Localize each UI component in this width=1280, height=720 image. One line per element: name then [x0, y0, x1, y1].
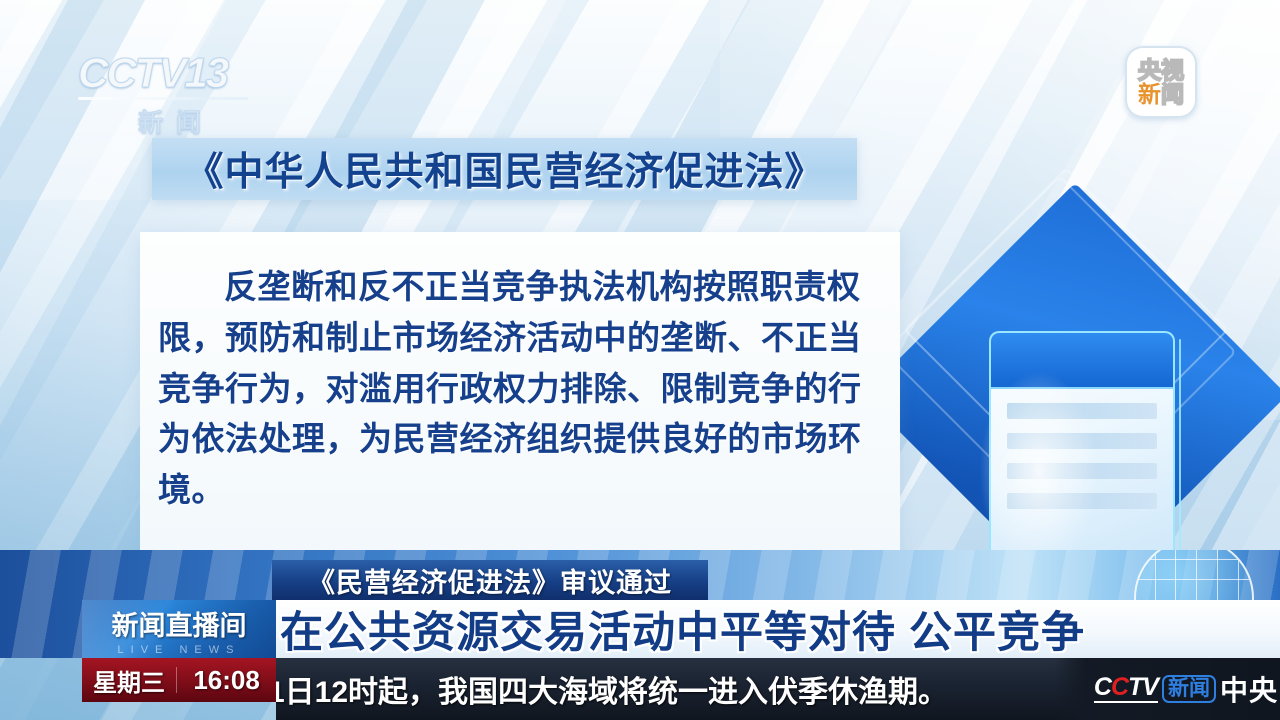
ticker-branding: CCTV 新闻 中央 — [1054, 658, 1280, 720]
document-text-line — [1007, 493, 1157, 509]
headline-text: 在公共资源交易活动中平等对待 公平竞争 — [272, 598, 1085, 660]
document-body — [989, 331, 1175, 561]
lower-third-kicker: 《民营经济促进法》审议通过 — [272, 560, 708, 600]
slide-body-panel: 反垄断和反不正当竞争执法机构按照职责权限，预防和制止市场经济活动中的垄断、不正当… — [140, 232, 900, 562]
slide-title: 《中华人民共和国民营经济促进法》 — [184, 141, 824, 197]
ticker-brand-tail: 中央 — [1220, 669, 1278, 709]
slide-body-paragraph: 反垄断和反不正当竞争执法机构按照职责权限，预防和制止市场经济活动中的垄断、不正当… — [158, 262, 882, 516]
slide-body-text: 反垄断和反不正当竞争执法机构按照职责权限，预防和制止市场经济活动中的垄断、不正当… — [158, 262, 882, 516]
clock-time: 16:08 — [177, 665, 276, 696]
cctv13-underline — [78, 97, 248, 100]
document-text-line — [1007, 433, 1157, 449]
slide-title-banner: 《中华人民共和国民营经济促进法》 — [152, 138, 857, 200]
document-header-bar — [991, 333, 1173, 389]
ticker-text: 1日12时起，我国四大海域将统一进入伏季休渔期。 — [276, 667, 948, 711]
kicker-text: 《民营经济促进法》审议通过 — [308, 561, 672, 600]
program-name: 新闻直播间 — [82, 604, 276, 643]
lower-third-headline-band: 在公共资源交易活动中平等对待 公平竞争 — [272, 600, 1280, 658]
app-logo-rest-char: 闻 — [1161, 81, 1184, 107]
cctv-wordmark: CCTV — [1094, 675, 1158, 703]
cctv-news-mark: CCTV 新闻 中央 — [1094, 669, 1278, 709]
document-icon — [989, 331, 1175, 561]
app-logo-accent-char: 新 — [1138, 81, 1161, 107]
cctv13-channel-logo: CCTV13 新闻 — [78, 52, 274, 130]
document-text-line — [1007, 403, 1157, 419]
program-badge: 新闻直播间 LIVE NEWS — [82, 600, 276, 658]
document-text-line — [1007, 463, 1157, 479]
app-logo-line1: 央视 — [1138, 59, 1184, 82]
cctv-news-app-logo: 央视 新闻 — [1125, 46, 1197, 118]
weekday-label: 星期三 — [82, 663, 176, 698]
cctv13-wordmark: CCTV13 — [78, 52, 274, 94]
clock-bar: 星期三 16:08 — [82, 658, 276, 702]
news-ticker: 1日12时起，我国四大海域将统一进入伏季休渔期。 CCTV 新闻 中央 — [276, 658, 1280, 720]
cctv13-subtitle: 新闻 — [78, 103, 274, 139]
news-box-label: 新闻 — [1162, 675, 1216, 703]
program-name-english: LIVE NEWS — [82, 644, 276, 656]
app-logo-line2: 新闻 — [1138, 83, 1184, 106]
broadcast-screen: CCTV13 新闻 央视 新闻 《中华人民共和国民营经济促进法》 反垄断和反不正… — [0, 0, 1280, 720]
